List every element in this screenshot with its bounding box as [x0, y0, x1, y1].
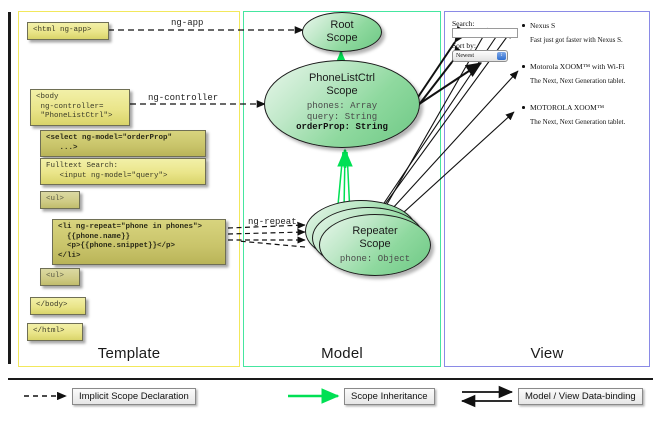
legend-item-implicit: Implicit Scope Declaration — [72, 388, 196, 405]
chevron-updown-icon[interactable]: ↕ — [497, 52, 506, 60]
root-scope-title: Root Scope — [303, 13, 381, 45]
bullet-icon — [522, 106, 525, 109]
ellipse-phonelistctrl-scope: PhoneListCtrl Scope phones: Array query:… — [264, 60, 420, 148]
legend-item-databinding: Model / View Data-binding — [518, 388, 643, 405]
label-ng-repeat: ng-repeat — [248, 217, 297, 227]
label-ng-app: ng-app — [171, 18, 203, 28]
ctrl-scope-member: query: String — [265, 112, 419, 123]
view-phone-snippet: The Next, Next Generation tablet. — [530, 77, 625, 85]
ctrl-scope-member: orderProp: String — [265, 122, 419, 133]
code-box-fulltext: Fulltext Search: <input ng-model="query"… — [40, 158, 206, 185]
view-phone-name: MOTOROLA XOOM™ — [530, 103, 604, 112]
ellipse-repeater-scope: Repeater Scope phone: Object — [319, 214, 431, 276]
legend-item-inheritance: Scope Inheritance — [344, 388, 435, 405]
diagram-canvas: Template Model View — [0, 0, 661, 425]
repeater-scope-title: Repeater Scope — [320, 215, 430, 251]
view-list-item[interactable]: MOTOROLA XOOM™ — [530, 103, 604, 112]
view-search-input[interactable] — [452, 28, 518, 38]
code-box-html-close: </html> — [27, 323, 83, 341]
bullet-icon — [522, 24, 525, 27]
label-ng-controller: ng-controller — [148, 93, 218, 103]
view-sort-value: Newest — [456, 53, 474, 59]
view-sort-select[interactable]: Newest ↕ — [452, 50, 508, 62]
view-phone-name: Motorola XOOM™ with Wi-Fi — [530, 62, 625, 71]
code-box-ul-close: <ul> — [40, 268, 80, 286]
panel-view-label: View — [445, 345, 649, 362]
panel-model-label: Model — [244, 345, 440, 362]
code-box-select: <select ng-model="orderProp" ...> — [40, 130, 206, 157]
code-box-li-repeat: <li ng-repeat="phone in phones"> {{phone… — [52, 219, 226, 265]
code-box-body: <body ng-controller= "PhoneListCtrl"> — [30, 89, 130, 126]
ctrl-scope-title: PhoneListCtrl Scope — [265, 61, 419, 98]
view-list-item[interactable]: Nexus S — [530, 21, 555, 30]
view-search-label: Search: — [452, 19, 475, 28]
ctrl-scope-member-bold: orderProp: String — [296, 122, 388, 132]
code-box-ul-open: <ul> — [40, 191, 80, 209]
ellipse-root-scope: Root Scope — [302, 12, 382, 52]
legend-divider — [8, 378, 653, 380]
view-phone-name: Nexus S — [530, 21, 555, 30]
ctrl-scope-members: phones: Array query: String orderProp: S… — [265, 101, 419, 133]
view-sort-label: Sort by: — [452, 41, 476, 50]
code-box-html: <html ng-app> — [27, 22, 109, 40]
bullet-icon — [522, 65, 525, 68]
left-vertical-rule — [8, 12, 11, 364]
view-phone-snippet: The Next, Next Generation tablet. — [530, 118, 625, 126]
repeater-scope-member: phone: Object — [320, 254, 430, 265]
view-list-item[interactable]: Motorola XOOM™ with Wi-Fi — [530, 62, 625, 71]
code-box-body-close: </body> — [30, 297, 86, 315]
panel-template-label: Template — [19, 345, 239, 362]
view-phone-snippet: Fast just got faster with Nexus S. — [530, 36, 623, 44]
ctrl-scope-member: phones: Array — [265, 101, 419, 112]
